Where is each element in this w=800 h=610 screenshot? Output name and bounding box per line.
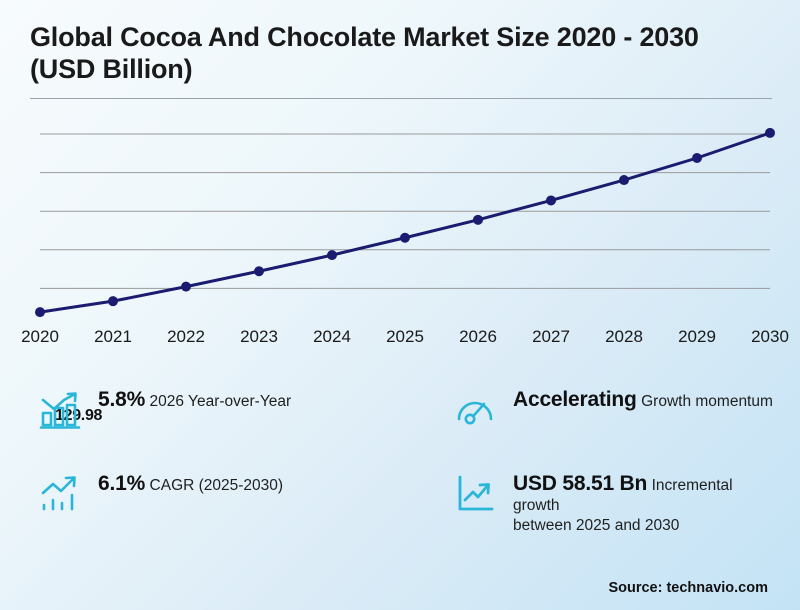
x-axis-tick-2022: 2022 [167, 327, 205, 347]
x-axis-tick-2025: 2025 [386, 327, 424, 347]
stat-value: 5.8% [98, 388, 145, 411]
line-chart-svg [40, 115, 770, 330]
stat-incremental-growth: USD 58.51 Bn Incremental growthbetween 2… [453, 470, 778, 536]
data-point-2021 [108, 296, 118, 306]
data-point-2026 [473, 215, 483, 225]
x-axis-tick-2027: 2027 [532, 327, 570, 347]
stats-grid: 5.8% 2026 Year-over-Year Accelerating Gr… [38, 386, 778, 536]
chart-area: 2020202120222023202420252026202720282029… [0, 115, 800, 355]
axis-trend-arrow-icon [453, 472, 497, 516]
x-axis-tick-2026: 2026 [459, 327, 497, 347]
trending-up-bars-icon [38, 472, 82, 516]
title-divider [30, 98, 772, 99]
x-axis-tick-2023: 2023 [240, 327, 278, 347]
stat-value: 6.1% [98, 472, 145, 495]
x-axis-tick-2020: 2020 [21, 327, 59, 347]
stat-label: 2026 Year-over-Year [150, 393, 292, 410]
x-axis-tick-2024: 2024 [313, 327, 351, 347]
data-point-2030 [765, 128, 775, 138]
page-title: Global Cocoa And Chocolate Market Size 2… [30, 22, 770, 85]
stat-label: Growth momentum [641, 393, 773, 410]
x-axis-labels: 2020202120222023202420252026202720282029… [0, 327, 800, 357]
data-point-2024 [327, 250, 337, 260]
x-axis-tick-2030: 2030 [751, 327, 789, 347]
title-block: Global Cocoa And Chocolate Market Size 2… [0, 0, 800, 99]
line-chart-plot [40, 115, 770, 330]
source-attribution: Source: technavio.com [608, 580, 768, 596]
stat-value: USD 58.51 Bn [513, 472, 647, 495]
stat-label: CAGR (2025-2030) [150, 477, 284, 494]
stat-value: Accelerating [513, 388, 637, 411]
data-point-2022 [181, 282, 191, 292]
series-line [40, 133, 770, 312]
stat-momentum: Accelerating Growth momentum [453, 386, 778, 470]
data-point-2029 [692, 153, 702, 163]
x-axis-tick-2028: 2028 [605, 327, 643, 347]
data-point-2028 [619, 175, 629, 185]
x-axis-tick-2021: 2021 [94, 327, 132, 347]
data-point-2027 [546, 196, 556, 206]
stat-cagr: 6.1% CAGR (2025-2030) [38, 470, 453, 536]
bar-chart-growth-icon [38, 388, 82, 432]
x-axis-tick-2029: 2029 [678, 327, 716, 347]
data-point-2020 [35, 307, 45, 317]
chart-gridlines [40, 134, 770, 288]
stat-yoy: 5.8% 2026 Year-over-Year [38, 386, 453, 470]
speedometer-icon [453, 388, 497, 432]
data-point-2023 [254, 266, 264, 276]
data-point-2025 [400, 233, 410, 243]
